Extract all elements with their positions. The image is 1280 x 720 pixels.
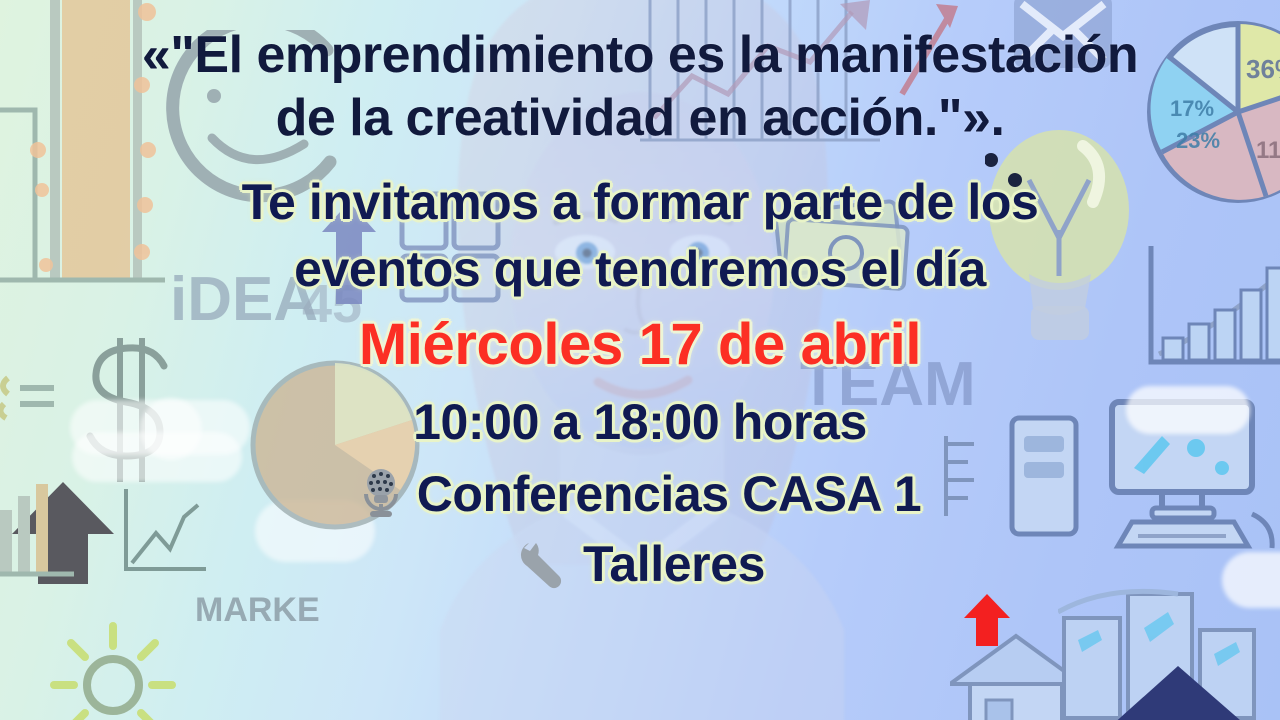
venue-row-conferences: Conferencias CASA 1 [359, 465, 922, 523]
poster-content: «"El emprendimiento es la manifestación … [0, 0, 1280, 720]
venue-row-workshops: Talleres [515, 535, 765, 593]
venue-label-workshops: Talleres [583, 535, 765, 593]
event-poster: MARKE iDEA 45 [0, 0, 1280, 720]
event-date: Miércoles 17 de abril [0, 314, 1280, 375]
invitation-line-1: Te invitamos a formar parte de los [0, 176, 1280, 229]
event-hours: 10:00 a 18:00 horas [0, 396, 1280, 449]
venue-label-conferences: Conferencias CASA 1 [417, 465, 922, 523]
wrench-icon [515, 539, 565, 589]
quote-line-1: «"El emprendimiento es la manifestación [0, 28, 1280, 83]
quote-line-2: de la creatividad en acción."». [0, 91, 1280, 146]
invitation-line-2: eventos que tendremos el día [0, 243, 1280, 296]
microphone-icon [359, 468, 403, 520]
